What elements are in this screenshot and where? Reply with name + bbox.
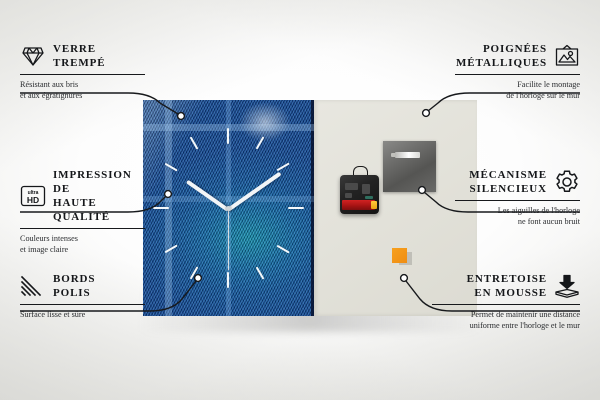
hour-marker <box>190 136 199 149</box>
callout-divider <box>432 304 580 305</box>
callout-title-line2: POLIS <box>53 286 95 300</box>
infographic-canvas: VERRE TREMPÉ Résistant aux bris et aux é… <box>0 0 600 400</box>
callout-title-line1: MÉCANISME <box>469 168 547 182</box>
mechanism-battery <box>342 200 375 210</box>
gear-icon <box>554 169 580 195</box>
callout-title-line1: BORDS <box>53 272 95 286</box>
hour-marker <box>190 266 199 279</box>
minute-hand <box>227 172 282 212</box>
callout-sub-line1: Permet de maintenir une distance <box>432 309 580 320</box>
mechanism-detail <box>345 183 358 190</box>
hanger-plate <box>383 141 436 192</box>
callout-sub-line2: uniforme entre l'horloge et le mur <box>432 320 580 331</box>
callout-divider <box>20 304 145 305</box>
callout-title-line1: VERRE <box>53 42 105 56</box>
callout-title-line2: SILENCIEUX <box>469 182 547 196</box>
callout-entretoise-en-mousse: ENTRETOISE EN MOUSSE Permet de maintenir… <box>432 272 580 331</box>
diamond-icon <box>20 43 46 69</box>
mechanism-detail <box>345 193 352 198</box>
callout-title-line2: EN MOUSSE <box>467 286 547 300</box>
callout-title-line1: IMPRESSION DE <box>53 168 145 196</box>
second-hand <box>228 208 229 270</box>
callout-title-line2: TREMPÉ <box>53 56 105 70</box>
callout-sub-line2: et image claire <box>20 244 145 255</box>
callout-sub-line1: Couleurs intenses <box>20 233 145 244</box>
foam-spacer <box>392 248 407 263</box>
callout-bords-polis: BORDS POLIS Surface lisse et sûre <box>20 272 145 320</box>
callout-title-line1: POIGNÉES <box>456 42 547 56</box>
mechanism-detail <box>362 184 370 194</box>
diagonal-lines-icon <box>20 273 46 299</box>
callout-sub-line2: de l'horloge sur le mur <box>455 90 580 101</box>
callout-mecanisme-silencieux: MÉCANISME SILENCIEUX Les aiguilles de l'… <box>455 168 580 227</box>
mechanism-label <box>365 196 373 199</box>
hour-marker <box>277 244 290 253</box>
callout-divider <box>455 200 580 201</box>
callout-sub-line1: Les aiguilles de l'horloge <box>455 205 580 216</box>
callout-title-line1: ENTRETOISE <box>467 272 547 286</box>
callout-verre-trempe: VERRE TREMPÉ Résistant aux bris et aux é… <box>20 42 145 101</box>
callout-title-line2: MÉTALLIQUES <box>456 56 547 70</box>
arrow-down-pad-icon <box>554 273 580 299</box>
callout-sub-line2: ne font aucun bruit <box>455 216 580 227</box>
hour-marker <box>288 207 304 209</box>
hanger-plate-slot <box>395 152 420 158</box>
callout-divider <box>455 74 580 75</box>
clock-face <box>143 100 314 316</box>
picture-frame-hanger-icon <box>554 43 580 69</box>
ultra-hd-badge-icon: ultra HD <box>20 183 46 209</box>
callout-impression-haute-qualite: ultra HD IMPRESSION DE HAUTE QUALITÉ Cou… <box>20 168 145 255</box>
callout-divider <box>20 228 145 229</box>
hour-marker <box>277 162 290 171</box>
clock-hub <box>226 206 231 211</box>
callout-divider <box>20 74 145 75</box>
callout-sub-line2: et aux égratignures <box>20 90 145 101</box>
callout-sub-line1: Facilite le montage <box>455 79 580 90</box>
callout-sub-line1: Résistant aux bris <box>20 79 145 90</box>
print-highlight <box>239 102 291 142</box>
svg-text:HD: HD <box>27 195 39 205</box>
callout-title-line2: HAUTE QUALITÉ <box>53 196 145 224</box>
hour-marker <box>256 266 265 279</box>
product-image <box>143 100 477 324</box>
callout-sub-line1: Surface lisse et sûre <box>20 309 145 320</box>
print-band <box>143 196 314 202</box>
callout-poignees-metalliques: POIGNÉES MÉTALLIQUES Facilite le montage… <box>455 42 580 101</box>
